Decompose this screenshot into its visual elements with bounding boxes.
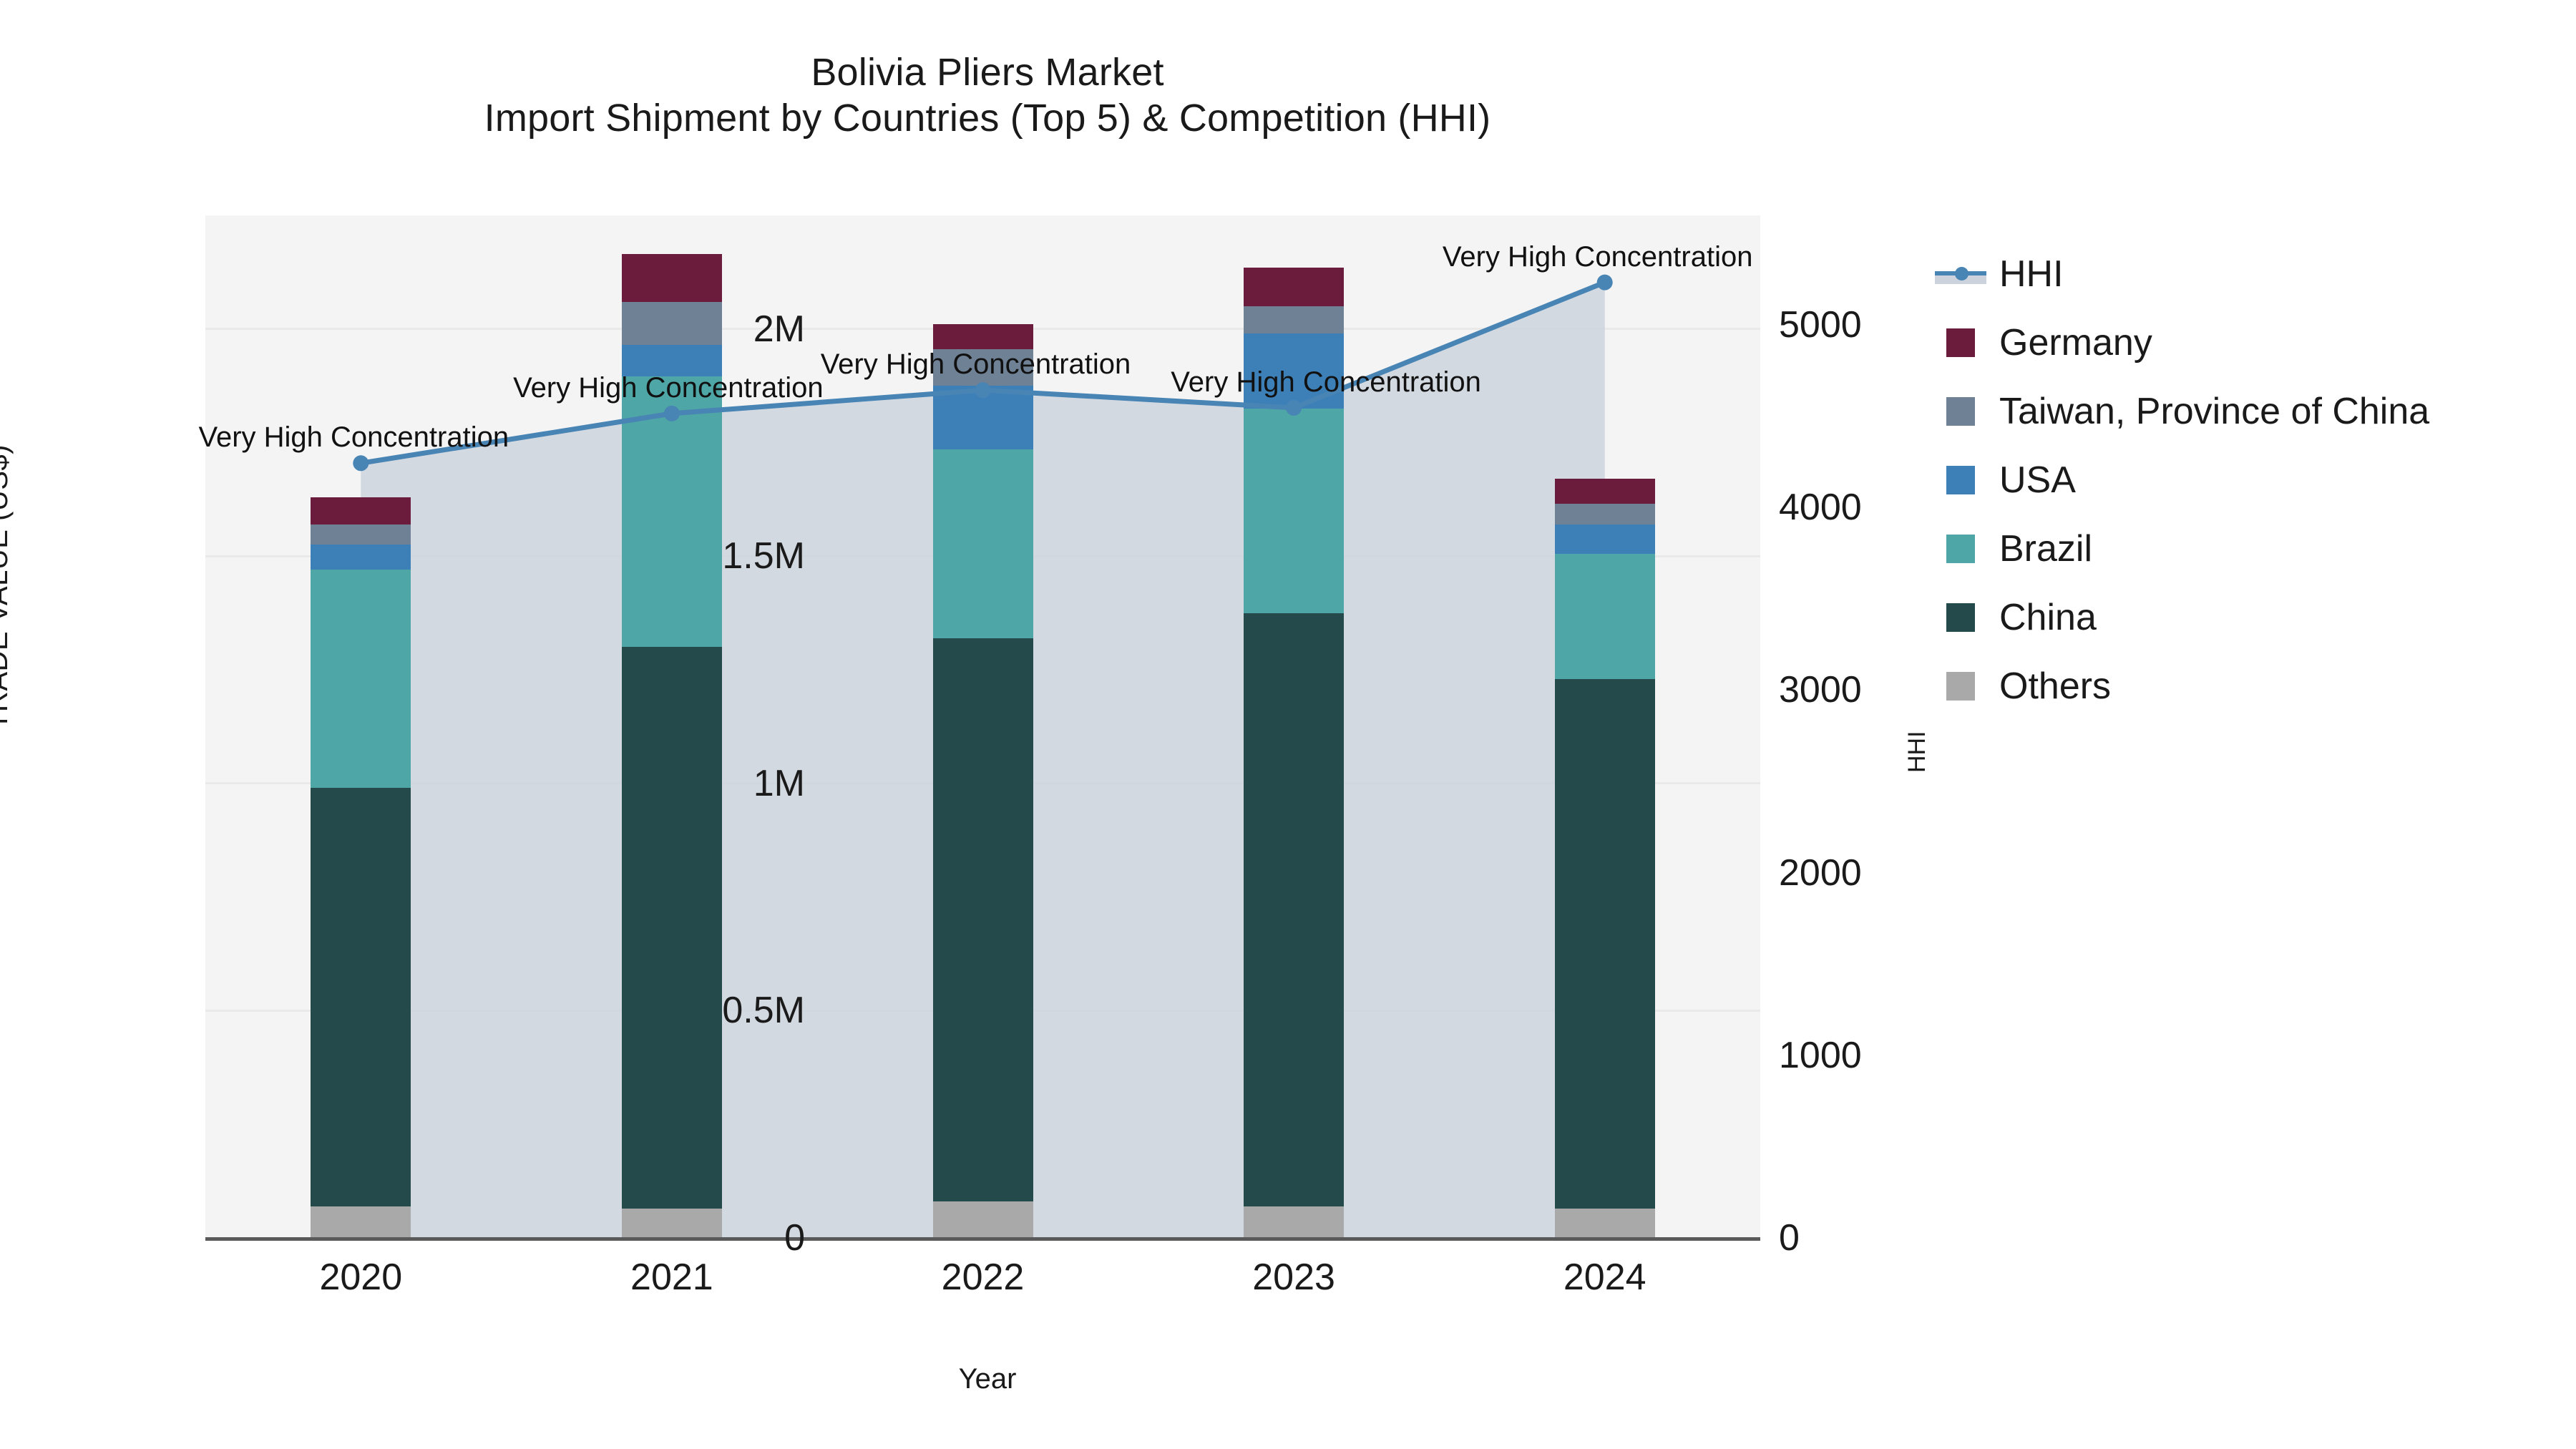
bar-segment[interactable] bbox=[311, 525, 411, 545]
bar-segment[interactable] bbox=[933, 386, 1033, 449]
y2-axis-tick-label: 0 bbox=[1779, 1216, 2065, 1259]
legend-swatch-icon bbox=[1946, 603, 1975, 632]
legend-item-label: Brazil bbox=[1999, 527, 2092, 570]
x-axis-tick-label: 2021 bbox=[565, 1256, 779, 1299]
bar-segment[interactable] bbox=[1555, 525, 1655, 554]
bar-segment[interactable] bbox=[311, 788, 411, 1206]
y2-axis-label: HHI bbox=[1903, 731, 1931, 773]
bar-group-2021[interactable] bbox=[622, 215, 722, 1238]
bar-segment[interactable] bbox=[1555, 679, 1655, 1209]
hhi-annotation-2024: Very High Concentration bbox=[1443, 241, 1753, 273]
y-axis-tick-label: 1.5M bbox=[519, 535, 805, 577]
bar-segment[interactable] bbox=[933, 638, 1033, 1202]
hhi-annotation-2023: Very High Concentration bbox=[1171, 366, 1481, 399]
bar-segment[interactable] bbox=[933, 449, 1033, 638]
bar-segment[interactable] bbox=[1244, 613, 1344, 1206]
bar-segment[interactable] bbox=[1555, 479, 1655, 504]
bar-segment[interactable] bbox=[311, 497, 411, 525]
bar-segment[interactable] bbox=[1244, 409, 1344, 613]
x-axis-tick-label: 2023 bbox=[1186, 1256, 1401, 1299]
legend-swatch-icon bbox=[1946, 328, 1975, 357]
chart-title-block: Bolivia Pliers Market Import Shipment by… bbox=[0, 50, 1975, 141]
x-axis-tick-label: 2022 bbox=[876, 1256, 1091, 1299]
bar-segment[interactable] bbox=[1555, 504, 1655, 525]
bar-segment[interactable] bbox=[933, 324, 1033, 349]
x-axis-tick-label: 2020 bbox=[253, 1256, 468, 1299]
chart-title-line-1: Bolivia Pliers Market bbox=[0, 50, 1975, 96]
legend-line-marker-icon bbox=[1946, 260, 1975, 288]
bar-group-2020[interactable] bbox=[311, 215, 411, 1238]
hhi-annotation-2022: Very High Concentration bbox=[821, 348, 1131, 381]
legend-item-germany[interactable]: Germany bbox=[1946, 308, 2562, 377]
hhi-annotation-2021: Very High Concentration bbox=[513, 372, 824, 404]
legend-swatch-icon bbox=[1946, 535, 1975, 563]
bar-group-2024[interactable] bbox=[1555, 215, 1655, 1238]
legend-item-hhi[interactable]: HHI bbox=[1946, 240, 2562, 308]
y2-axis-tick-label: 2000 bbox=[1779, 852, 2065, 894]
bar-segment[interactable] bbox=[1555, 554, 1655, 679]
legend-item-label: Others bbox=[1999, 665, 2111, 708]
legend-item-china[interactable]: China bbox=[1946, 583, 2562, 652]
x-axis-label: Year bbox=[0, 1363, 1975, 1395]
bar-segment[interactable] bbox=[311, 570, 411, 788]
y-axis-tick-label: 0.5M bbox=[519, 989, 805, 1032]
legend-item-usa[interactable]: USA bbox=[1946, 446, 2562, 514]
chart-title-line-2: Import Shipment by Countries (Top 5) & C… bbox=[0, 96, 1975, 142]
legend-swatch-icon bbox=[1946, 397, 1975, 426]
bar-segment[interactable] bbox=[1244, 1206, 1344, 1238]
legend-item-brazil[interactable]: Brazil bbox=[1946, 514, 2562, 583]
x-axis-tick-label: 2024 bbox=[1498, 1256, 1712, 1299]
bar-segment[interactable] bbox=[622, 376, 722, 647]
chart-legend: HHIGermanyTaiwan, Province of ChinaUSABr… bbox=[1946, 240, 2562, 721]
legend-item-label: Germany bbox=[1999, 321, 2152, 364]
legend-swatch-icon bbox=[1946, 672, 1975, 701]
y-axis-tick-label: 2M bbox=[519, 308, 805, 351]
bar-segment[interactable] bbox=[1244, 268, 1344, 306]
legend-item-others[interactable]: Others bbox=[1946, 652, 2562, 721]
legend-item-label: HHI bbox=[1999, 253, 2064, 296]
legend-item-taiwan-province-of-china[interactable]: Taiwan, Province of China bbox=[1946, 377, 2562, 446]
bar-segment[interactable] bbox=[622, 254, 722, 302]
y2-axis-tick-label: 1000 bbox=[1779, 1034, 2065, 1077]
x-axis-line bbox=[205, 1237, 1760, 1241]
bar-segment[interactable] bbox=[1555, 1209, 1655, 1238]
chart-root: Bolivia Pliers Market Import Shipment by… bbox=[0, 0, 2576, 1449]
legend-item-label: Taiwan, Province of China bbox=[1999, 390, 2429, 433]
bar-segment[interactable] bbox=[311, 1206, 411, 1238]
legend-item-label: China bbox=[1999, 596, 2097, 639]
bar-segment[interactable] bbox=[1244, 306, 1344, 333]
hhi-annotation-2020: Very High Concentration bbox=[199, 421, 509, 454]
y-axis-label: TRADE VALUE (US$) bbox=[0, 444, 14, 730]
y-axis-tick-label: 0 bbox=[519, 1216, 805, 1259]
bar-segment[interactable] bbox=[311, 545, 411, 570]
legend-item-label: USA bbox=[1999, 459, 2076, 502]
y-axis-tick-label: 1M bbox=[519, 762, 805, 805]
legend-swatch-icon bbox=[1946, 466, 1975, 494]
bar-segment[interactable] bbox=[622, 647, 722, 1208]
bar-segment[interactable] bbox=[933, 1201, 1033, 1238]
